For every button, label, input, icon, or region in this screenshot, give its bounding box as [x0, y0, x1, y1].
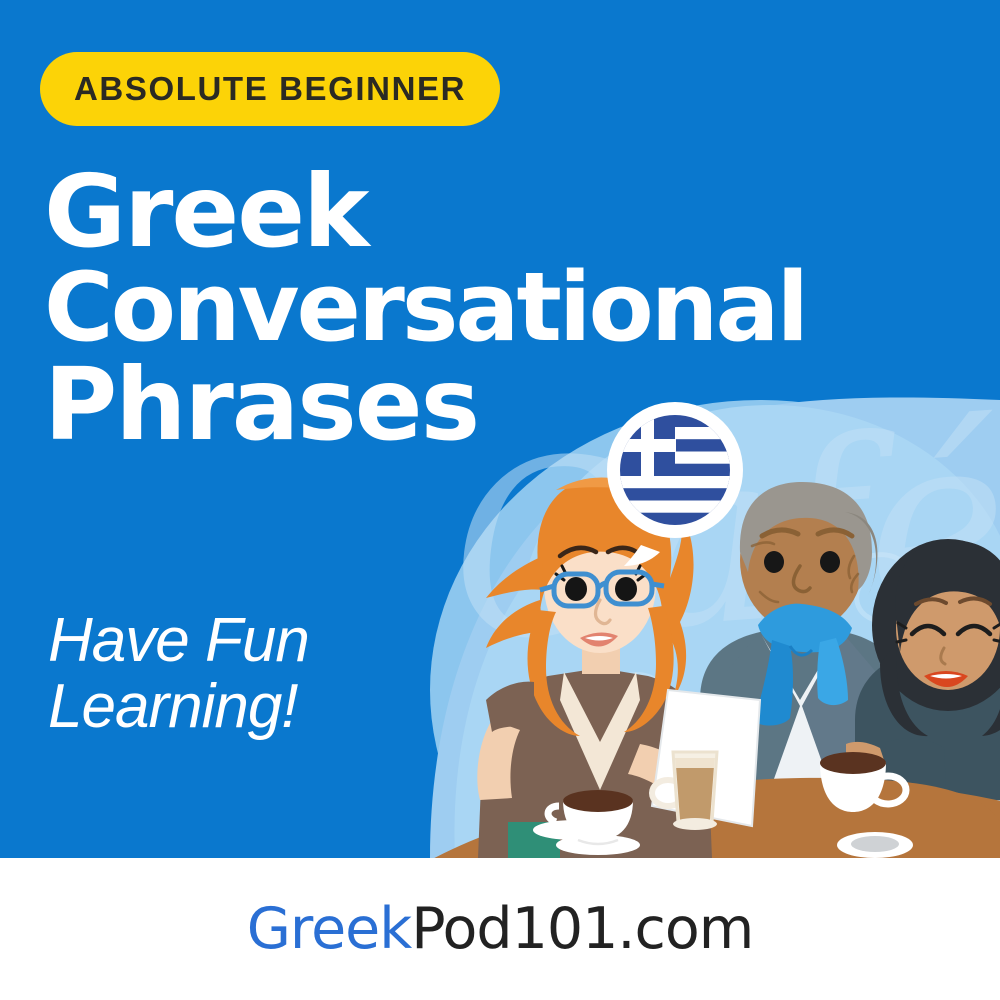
- cover-art: Café: [0, 0, 1000, 1000]
- level-badge-label: ABSOLUTE BEGINNER: [74, 70, 466, 108]
- tagline-line-1: Have Fun: [48, 608, 468, 674]
- title-line-2: Conversational: [44, 261, 974, 355]
- title-line-3: Phrases: [44, 355, 974, 454]
- footer-bar: GreekPod101.com: [0, 858, 1000, 1000]
- brand-suffix: Pod101.com: [411, 896, 753, 962]
- blue-background-panel: Café: [0, 0, 1000, 858]
- tagline-line-2: Learning!: [48, 674, 468, 740]
- tagline: Have Fun Learning!: [48, 608, 468, 741]
- level-badge: ABSOLUTE BEGINNER: [40, 52, 500, 126]
- page-title: Greek Conversational Phrases: [44, 162, 974, 454]
- brand-wordmark: GreekPod101.com: [247, 901, 754, 958]
- title-line-1: Greek: [44, 162, 974, 261]
- brand-prefix: Greek: [247, 896, 412, 962]
- saucer-right: [837, 832, 913, 858]
